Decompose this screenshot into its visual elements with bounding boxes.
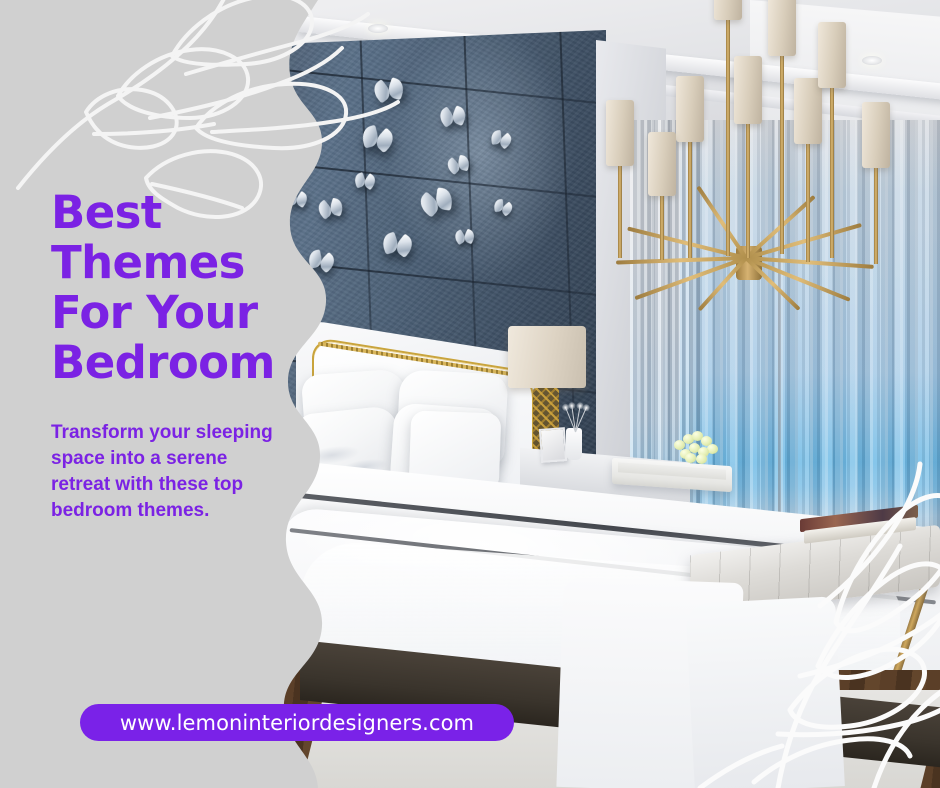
flower-bouquet bbox=[672, 430, 718, 464]
page-title: Best Themes For Your Bedroom bbox=[51, 188, 311, 388]
poster-canvas: Best Themes For Your Bedroom Transform y… bbox=[0, 0, 940, 788]
chandelier-stem bbox=[618, 162, 622, 258]
chandelier-shade bbox=[676, 76, 704, 142]
picture-frame bbox=[539, 427, 567, 463]
chandelier-shade bbox=[794, 78, 822, 144]
chandelier-stem bbox=[726, 18, 730, 256]
chandelier-shade bbox=[714, 0, 742, 20]
white-vase bbox=[566, 428, 582, 460]
chandelier-stem bbox=[874, 166, 878, 264]
wavy-edge-divider bbox=[0, 0, 326, 788]
chandelier-shade bbox=[768, 0, 796, 56]
chandelier-shade bbox=[606, 100, 634, 166]
chandelier-icon bbox=[540, 0, 940, 294]
website-url-pill[interactable]: www.lemoninteriordesigners.com bbox=[80, 704, 514, 741]
chandelier-stem bbox=[806, 142, 810, 262]
website-url-label: www.lemoninteriordesigners.com bbox=[120, 711, 474, 735]
chandelier-stem bbox=[830, 86, 834, 258]
content-panel bbox=[0, 0, 360, 788]
chandelier-shade bbox=[862, 102, 890, 168]
downlight-icon bbox=[368, 24, 388, 33]
chandelier-shade bbox=[734, 56, 762, 124]
chandelier-shade bbox=[818, 22, 846, 88]
chandelier-stem bbox=[660, 194, 664, 260]
chandelier-stem bbox=[746, 122, 750, 258]
dried-stems bbox=[562, 402, 590, 432]
chandelier-stem bbox=[688, 140, 692, 258]
chandelier-shade bbox=[648, 132, 676, 196]
bed-sheet-drape bbox=[685, 596, 845, 788]
tray-inner bbox=[618, 462, 726, 480]
subheading-text: Transform your sleeping space into a ser… bbox=[51, 420, 287, 524]
table-lamp-icon bbox=[508, 326, 586, 388]
chandelier-stem bbox=[780, 54, 784, 254]
